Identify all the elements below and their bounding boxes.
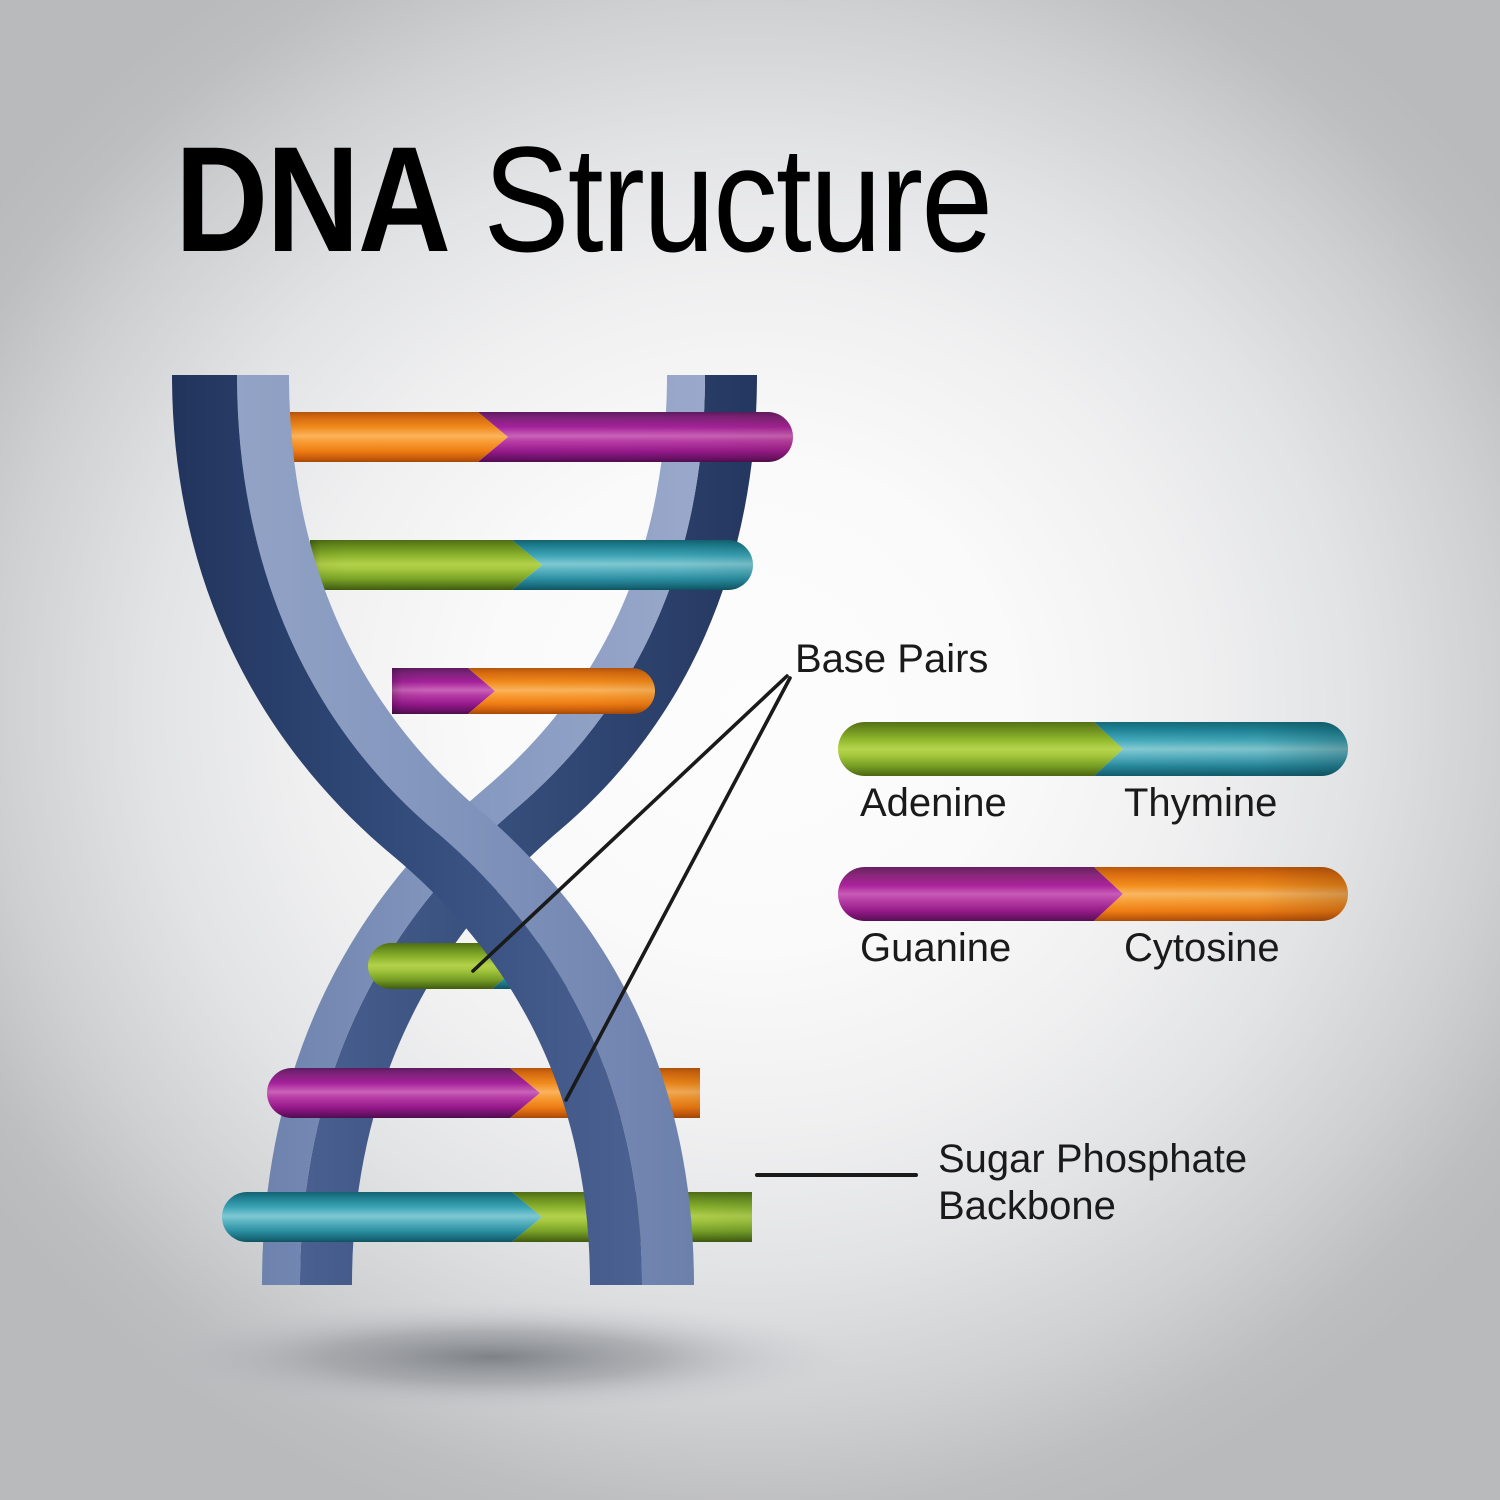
- legend-label-cytosine: Cytosine: [1124, 926, 1280, 971]
- dna-structure-infographic: DNA Structure: [0, 0, 1500, 1500]
- annotation-base-pairs-label: Base Pairs: [795, 637, 988, 681]
- legend-bar-adenine-thymine: [838, 722, 1348, 776]
- legend-labels-adenine-thymine: Adenine Thymine: [838, 781, 1348, 843]
- legend-labels-guanine-cytosine: Guanine Cytosine: [838, 926, 1348, 988]
- dna-strand-front: [172, 375, 694, 1285]
- rung-3: [392, 668, 655, 714]
- legend-row-guanine-cytosine: Guanine Cytosine: [838, 867, 1348, 988]
- base-pair-legend: Adenine Thymine Guanine Cytosine: [838, 722, 1348, 988]
- ground-shadow: [132, 1301, 852, 1413]
- legend-row-adenine-thymine: Adenine Thymine: [838, 722, 1348, 843]
- legend-label-thymine: Thymine: [1124, 781, 1277, 826]
- annotation-sugar-line1: Sugar Phosphate: [938, 1136, 1247, 1183]
- legend-label-guanine: Guanine: [860, 926, 1011, 971]
- annotation-sugar-phosphate-backbone: Sugar Phosphate Backbone: [938, 1136, 1247, 1230]
- legend-label-adenine: Adenine: [860, 781, 1007, 826]
- legend-bar-guanine-cytosine: [838, 867, 1348, 921]
- annotation-sugar-line2: Backbone: [938, 1183, 1247, 1230]
- annotation-base-pairs: Base Pairs: [795, 636, 988, 683]
- rung-1: [262, 412, 793, 462]
- rung-2: [310, 540, 753, 590]
- dna-strand-back: [262, 375, 757, 1285]
